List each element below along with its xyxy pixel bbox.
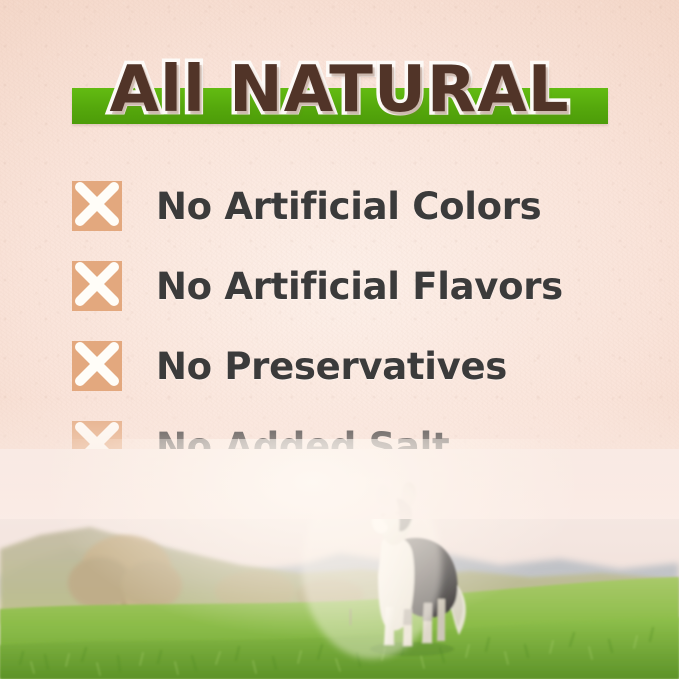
- list-item: No Artificial Flavors: [72, 246, 632, 326]
- claim-label: No Preservatives: [156, 345, 507, 388]
- claim-label: No Artificial Flavors: [156, 265, 563, 308]
- list-item: No Artificial Colors: [72, 166, 632, 246]
- x-mark-icon: [72, 261, 122, 311]
- list-item: No Preservatives: [72, 326, 632, 406]
- claims-list: No Artificial Colors No Artificial Flavo…: [72, 166, 632, 486]
- x-mark-icon: [72, 181, 122, 231]
- product-feature-poster: All NATURAL No Artificial Colors No Arti…: [0, 0, 679, 679]
- claim-label: No Artificial Colors: [156, 185, 541, 228]
- dog-in-field-photo: [0, 449, 679, 679]
- x-mark-icon: [72, 341, 122, 391]
- page-title: All NATURAL: [0, 50, 679, 130]
